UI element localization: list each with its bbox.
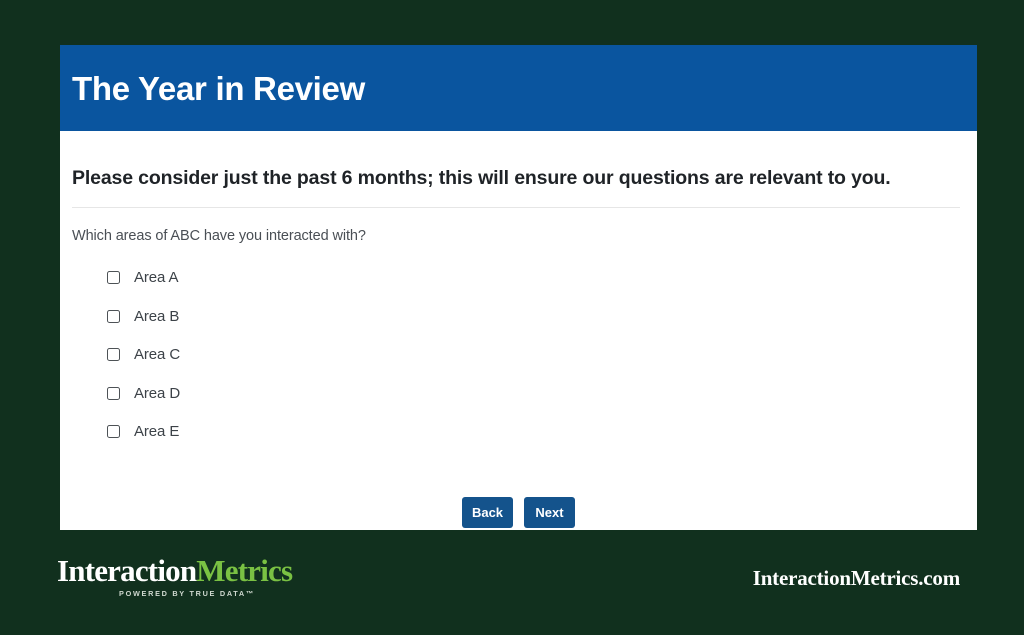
list-item[interactable]: Area C — [107, 335, 959, 374]
back-button[interactable]: Back — [462, 497, 513, 528]
next-button[interactable]: Next — [524, 497, 575, 528]
page-title: The Year in Review — [72, 72, 365, 105]
footer-website-url: InteractionMetrics.com — [753, 566, 960, 591]
survey-body: Please consider just the past 6 months; … — [60, 167, 977, 566]
brand-logo: InteractionMetrics POWERED BY TRUE DATA™ — [57, 555, 357, 598]
list-item[interactable]: Area D — [107, 374, 959, 413]
logo-text-interaction: Interaction — [57, 553, 196, 588]
checkbox-option-list: Area A Area B Area C Area D Area E — [72, 258, 959, 451]
footer: InteractionMetrics POWERED BY TRUE DATA™… — [0, 530, 1024, 635]
checkbox-icon[interactable] — [107, 387, 120, 400]
list-item[interactable]: Area A — [107, 258, 959, 297]
checkbox-icon[interactable] — [107, 310, 120, 323]
list-item[interactable]: Area E — [107, 412, 959, 451]
navigation-button-row: Back Next — [60, 497, 977, 528]
logo-wordmark: InteractionMetrics — [57, 555, 357, 586]
option-label: Area E — [134, 423, 179, 440]
option-label: Area B — [134, 308, 179, 325]
option-label: Area C — [134, 346, 180, 363]
list-item[interactable]: Area B — [107, 297, 959, 336]
checkbox-icon[interactable] — [107, 425, 120, 438]
survey-header-bar: The Year in Review — [60, 45, 977, 131]
checkbox-icon[interactable] — [107, 348, 120, 361]
logo-tagline: POWERED BY TRUE DATA™ — [119, 589, 357, 598]
logo-text-metrics: Metrics — [196, 553, 292, 588]
instruction-text: Please consider just the past 6 months; … — [72, 167, 959, 190]
section-divider — [72, 207, 960, 208]
option-label: Area A — [134, 269, 178, 286]
question-text: Which areas of ABC have you interacted w… — [72, 228, 959, 244]
option-label: Area D — [134, 385, 180, 402]
survey-card: The Year in Review Please consider just … — [60, 45, 977, 530]
slide-canvas: The Year in Review Please consider just … — [0, 0, 1024, 635]
checkbox-icon[interactable] — [107, 271, 120, 284]
